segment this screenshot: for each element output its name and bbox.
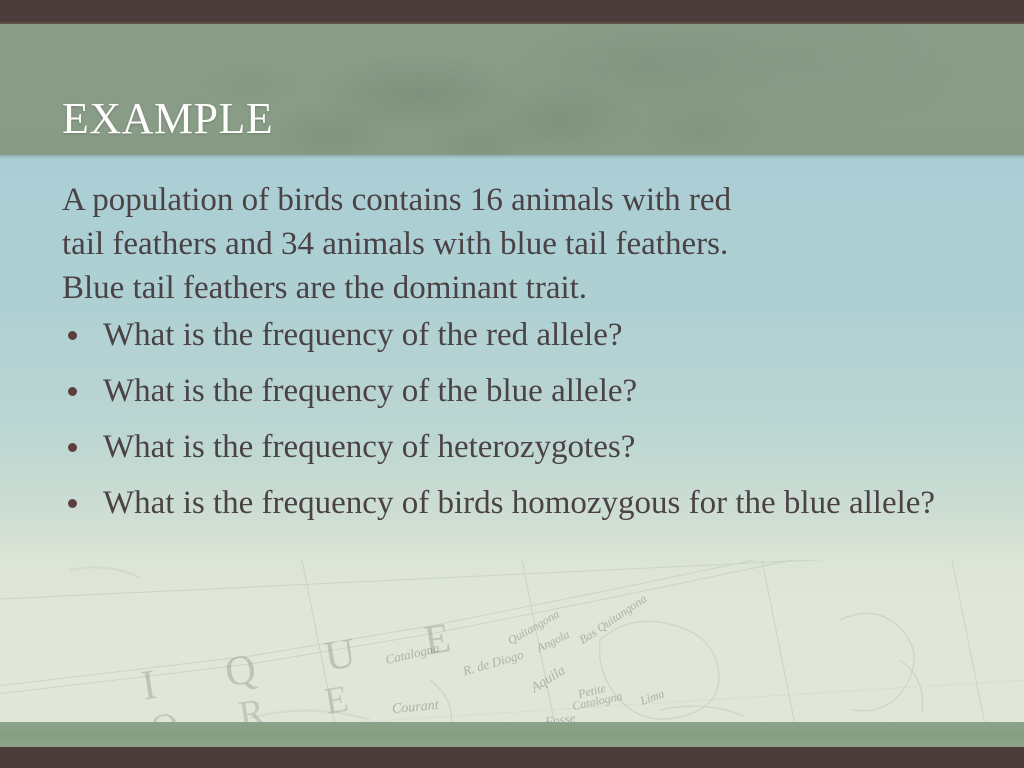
intro-line: A population of birds contains 16 animal… — [62, 178, 942, 222]
top-accent-bar-edge — [0, 22, 1024, 24]
bullet-dot-icon — [68, 331, 77, 340]
footer-green-band — [0, 722, 1024, 747]
list-item: What is the frequency of the blue allele… — [62, 369, 1003, 413]
slide-content: A population of birds contains 16 animal… — [62, 178, 982, 525]
list-item-label: What is the frequency of the blue allele… — [103, 373, 637, 409]
list-item-label: What is the frequency of heterozygotes? — [103, 429, 635, 465]
list-item: What is the frequency of heterozygotes? — [62, 425, 1003, 469]
intro-line: Blue tail feathers are the dominant trai… — [62, 266, 942, 310]
intro-paragraph: A population of birds contains 16 animal… — [62, 178, 942, 310]
bullet-dot-icon — [68, 499, 77, 508]
presentation-slide: I Q U E O R E Catalogna R. de Diogo Cour… — [0, 0, 1024, 768]
list-item: What is the frequency of birds homozygou… — [62, 481, 1003, 525]
question-bullet-list: What is the frequency of the red allele?… — [62, 313, 982, 525]
bullet-dot-icon — [68, 387, 77, 396]
slide-title: EXAMPLE — [62, 96, 273, 142]
intro-line: tail feathers and 34 animals with blue t… — [62, 222, 942, 266]
list-item: What is the frequency of the red allele? — [62, 313, 1003, 357]
bottom-accent-bar — [0, 747, 1024, 768]
list-item-label: What is the frequency of birds homozygou… — [103, 485, 935, 521]
top-accent-bar — [0, 0, 1024, 22]
header-shadow — [0, 155, 1024, 159]
list-item-label: What is the frequency of the red allele? — [103, 317, 623, 353]
bullet-dot-icon — [68, 443, 77, 452]
